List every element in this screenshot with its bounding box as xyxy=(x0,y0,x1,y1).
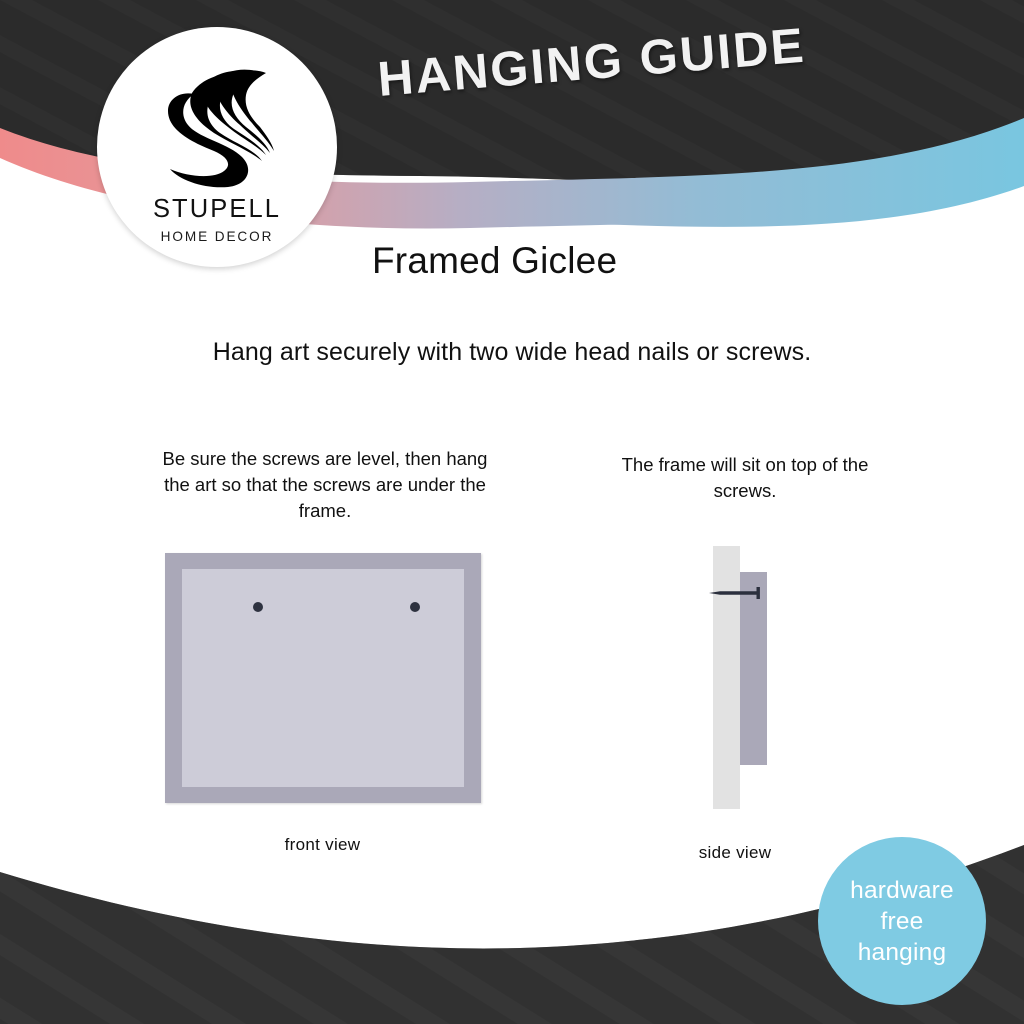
side-view-label: side view xyxy=(645,843,825,863)
front-view-diagram xyxy=(165,553,481,803)
front-view-mat xyxy=(182,569,464,787)
badge-line-3: hanging xyxy=(858,937,947,968)
hanging-guide-page: STUPELL HOME DECOR HANGING GUIDE Framed … xyxy=(0,0,1024,1024)
page-title: HANGING GUIDE xyxy=(376,18,808,108)
front-view-label: front view xyxy=(165,835,480,855)
lead-instruction-text: Hang art securely with two wide head nai… xyxy=(0,338,1024,367)
logo-wordmark: STUPELL xyxy=(153,197,281,223)
product-type-heading: Framed Giclee xyxy=(372,240,617,282)
screw-dot-left-icon xyxy=(253,602,263,612)
brand-logo-badge: STUPELL HOME DECOR xyxy=(97,27,337,267)
front-view-caption: Be sure the screws are level, then hang … xyxy=(160,446,490,524)
badge-line-1: hardware xyxy=(850,875,954,906)
screw-dot-right-icon xyxy=(410,602,420,612)
logo-tagline: HOME DECOR xyxy=(161,230,274,244)
badge-line-2: free xyxy=(880,906,923,937)
stupell-swoosh-icon xyxy=(158,65,276,189)
side-view-caption: The frame will sit on top of the screws. xyxy=(600,452,890,504)
side-view-diagram xyxy=(705,545,815,810)
nail-icon xyxy=(708,586,763,600)
hardware-free-hanging-badge: hardware free hanging xyxy=(818,837,986,1005)
side-view-frame xyxy=(740,572,767,765)
